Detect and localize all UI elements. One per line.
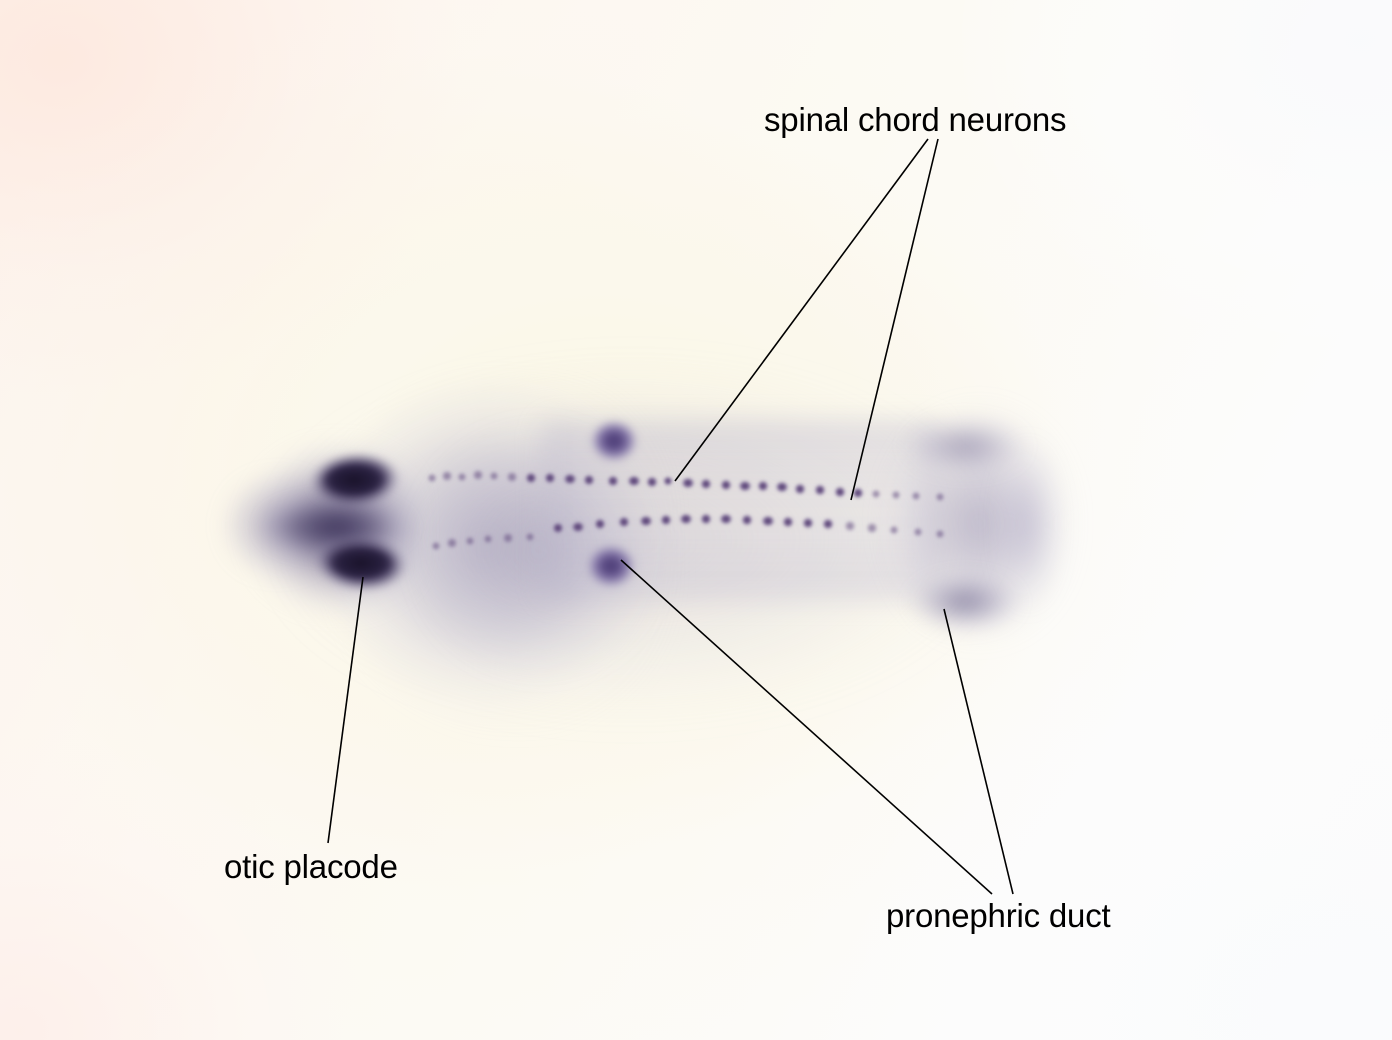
- label-pronephric-duct: pronephric duct: [886, 899, 1110, 932]
- annotation-layer: spinal chord neurons otic placode pronep…: [0, 0, 1392, 1040]
- leader-line-pronephric-duct-2: [944, 609, 1013, 894]
- micrograph-figure: spinal chord neurons otic placode pronep…: [0, 0, 1392, 1040]
- leader-lines: [0, 0, 1392, 1040]
- leader-line-spinal-chord-neurons-2: [851, 139, 938, 500]
- label-otic-placode: otic placode: [224, 850, 398, 883]
- leader-line-pronephric-duct-1: [621, 560, 992, 894]
- leader-line-spinal-chord-neurons-1: [675, 139, 928, 481]
- label-spinal-chord-neurons: spinal chord neurons: [764, 103, 1066, 136]
- leader-line-otic-placode-1: [328, 577, 363, 843]
